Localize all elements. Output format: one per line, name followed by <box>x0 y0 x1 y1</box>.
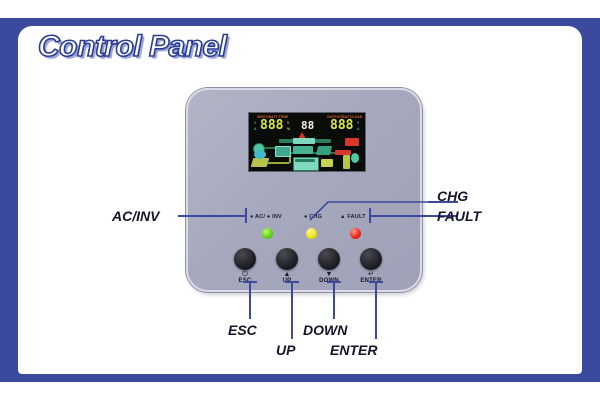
led-fault <box>350 228 361 239</box>
callout-label-enter: ENTER <box>330 342 377 358</box>
lcd-segment-center: 88 <box>301 119 314 132</box>
callout-line-up <box>291 281 293 339</box>
fault-bar-icon <box>335 150 351 155</box>
led-label-ac-inv: ● AC/ ● INV <box>250 214 282 220</box>
diagram-bus-highlight <box>293 138 315 144</box>
callout-label-chg: CHG <box>437 188 468 204</box>
callout-line-esc <box>249 281 251 319</box>
lcd-unit-mid-volt: V <box>287 121 289 125</box>
enter-return-icon: ↵ <box>356 271 386 278</box>
diagram-wire-2 <box>267 162 289 164</box>
fan-icon <box>254 150 266 159</box>
callout-line-chg <box>300 186 430 222</box>
callout-tick-acinv <box>245 208 247 223</box>
lcd-display: INPUT/BATT TEMP OUTPUT/BATT/LOAD 888 88 … <box>248 112 366 172</box>
lcd-flow-diagram <box>249 138 365 171</box>
page-title: Control Panel <box>38 30 227 64</box>
led-ac-inv <box>262 228 273 239</box>
inverter-icon <box>275 146 291 157</box>
callout-label-up: UP <box>276 342 295 358</box>
callout-line-enter <box>375 281 377 339</box>
button-up[interactable] <box>276 248 298 270</box>
callout-line-down <box>333 281 335 319</box>
lcd-segment-right: 888 <box>330 119 353 132</box>
battery-bar-1 <box>295 159 315 162</box>
lcd-unit-left-amp: A <box>254 127 256 131</box>
callout-label-acinv: AC/INV <box>112 208 159 224</box>
lcd-unit-left-volt: V <box>254 121 256 125</box>
lcd-segment-left: 888 <box>260 119 283 132</box>
load-icon <box>321 159 333 167</box>
button-esc[interactable] <box>234 248 256 270</box>
arrow-up-icon: ▲ <box>272 271 302 278</box>
rectifier-icon <box>316 146 332 155</box>
callout-label-esc: ESC <box>228 322 257 338</box>
transformer-icon <box>293 146 313 154</box>
lcd-readout-row: INPUT/BATT TEMP OUTPUT/BATT/LOAD 888 88 … <box>249 113 365 139</box>
power-icon: ⏻ <box>230 271 260 278</box>
lcd-unit-right-amp: A <box>357 127 359 131</box>
screenshot-root: Control Panel INPUT/BATT TEMP OUTPUT/BAT… <box>0 0 600 400</box>
diagram-alarm-block <box>345 138 359 146</box>
led-chg <box>306 228 317 239</box>
button-enter[interactable] <box>360 248 382 270</box>
output-bar-icon <box>343 155 350 169</box>
lcd-unit-right-volt: V <box>357 121 359 125</box>
lcd-unit-mid-pct: % <box>287 127 290 131</box>
arrow-down-icon: ▼ <box>314 271 344 278</box>
callout-label-fault: FAULT <box>437 208 481 224</box>
button-down[interactable] <box>318 248 340 270</box>
callout-label-down: DOWN <box>303 322 347 338</box>
callout-line-acinv <box>178 215 246 217</box>
output-circle-icon <box>351 153 359 163</box>
